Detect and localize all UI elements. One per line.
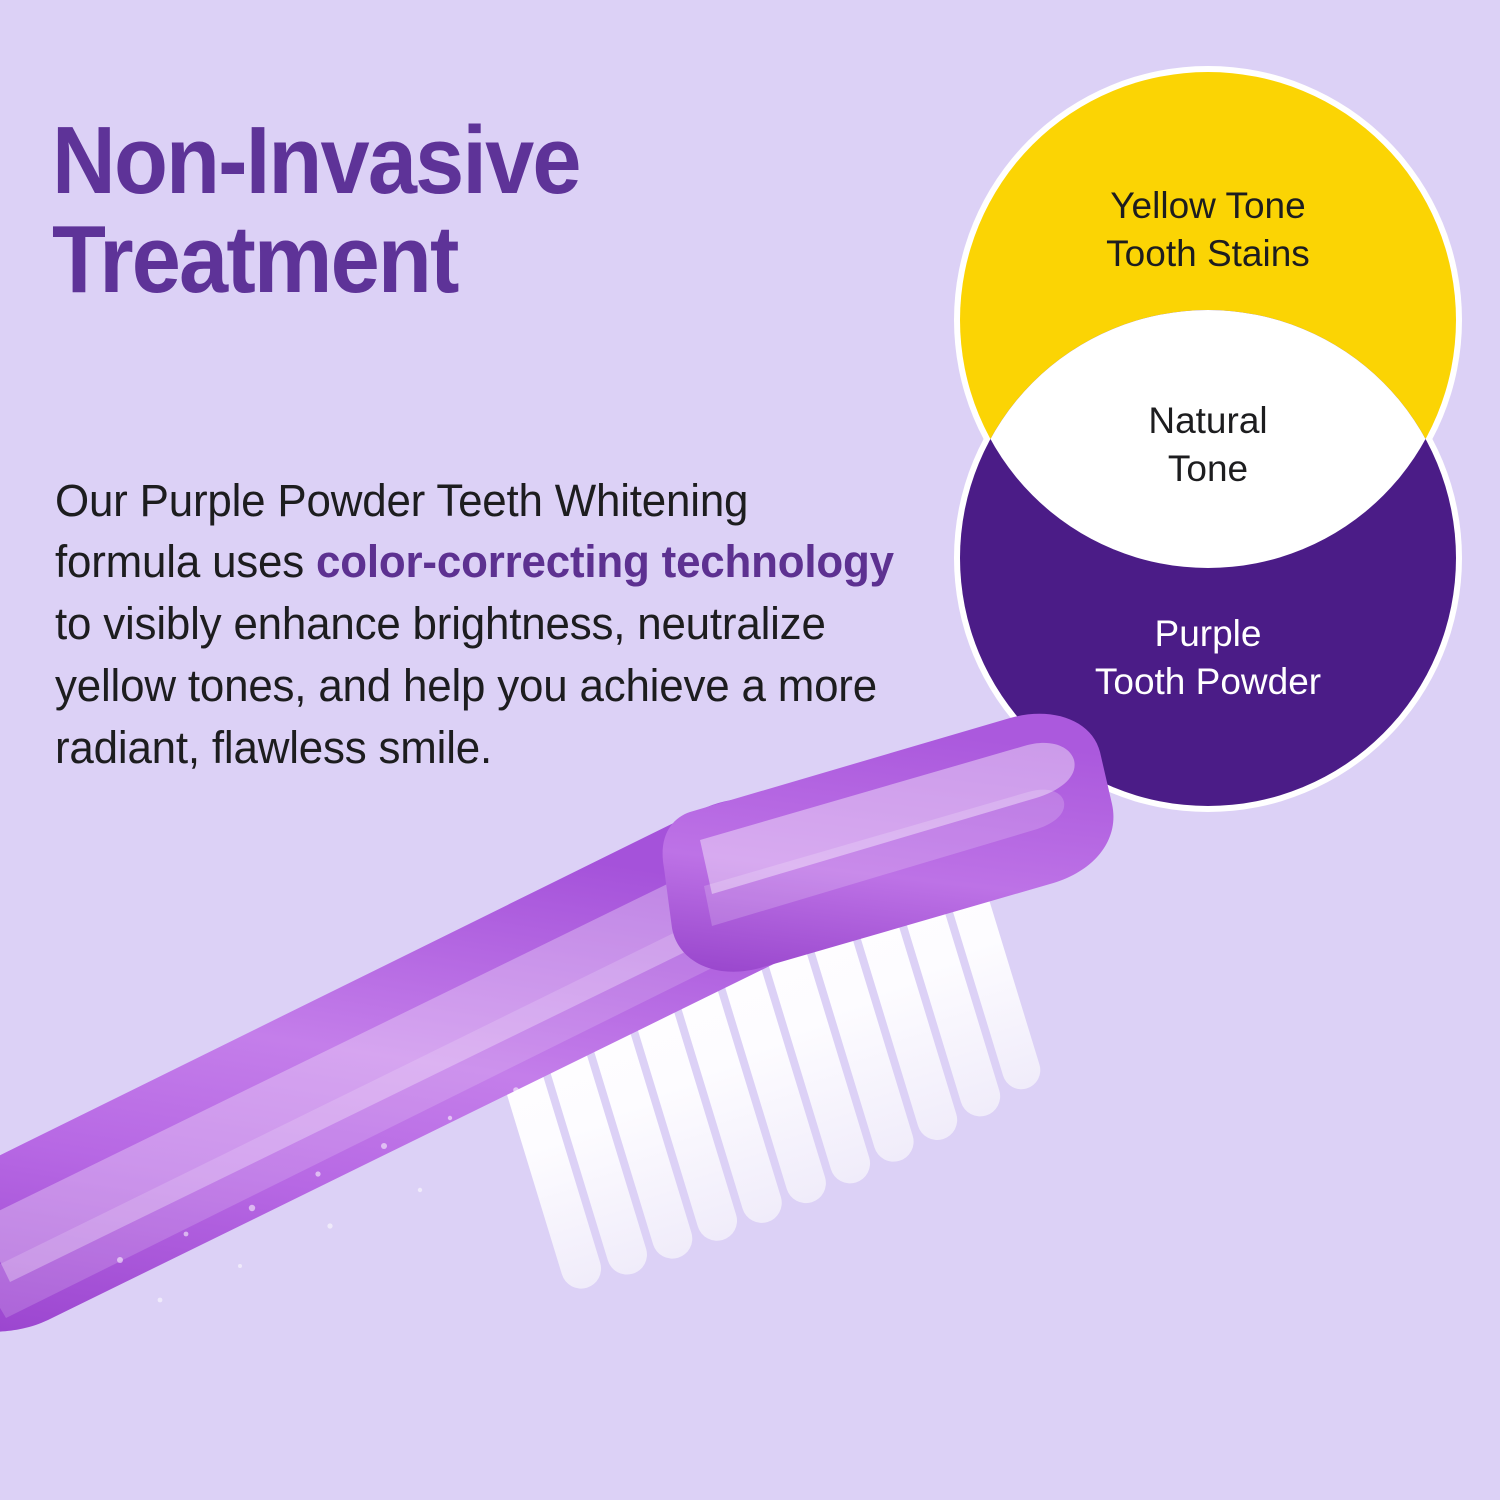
venn-label-purple-line2: Tooth Powder [1095, 661, 1321, 702]
page-title: Non-Invasive Treatment [52, 112, 843, 310]
venn-label-yellow-line1: Yellow Tone [1110, 185, 1305, 226]
infographic-canvas: Non-Invasive Treatment Our Purple Powder… [0, 0, 1500, 1500]
body-text-highlight: color-correcting technology [316, 536, 894, 587]
venn-label-natural-line2: Tone [1168, 448, 1248, 489]
product-illustration [0, 700, 1500, 1500]
purple-toothbrush [0, 714, 1113, 1332]
venn-label-natural-line1: Natural [1148, 400, 1267, 441]
venn-label-purple-line1: Purple [1155, 613, 1262, 654]
venn-label-yellow-line2: Tooth Stains [1106, 233, 1310, 274]
